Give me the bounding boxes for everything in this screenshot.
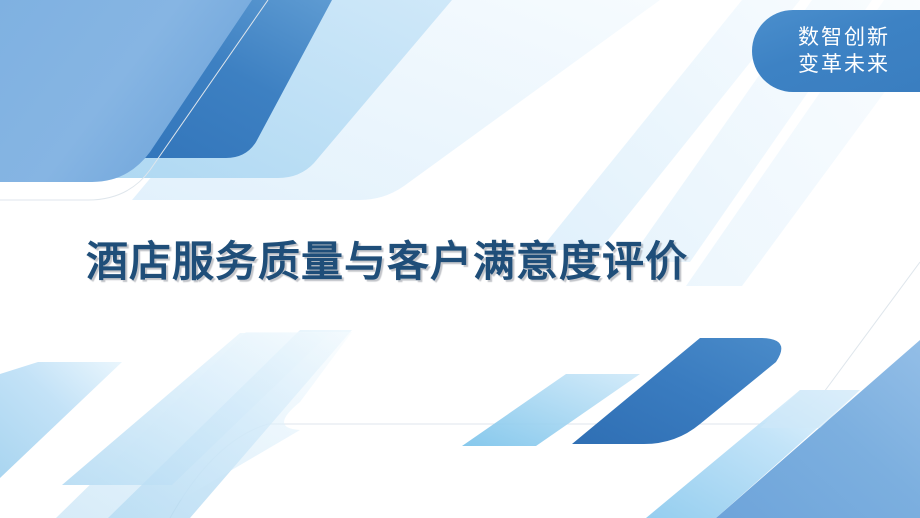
page-title: 酒店服务质量与客户满意度评价 <box>86 228 786 289</box>
corner-badge: 数智创新 变革未来 <box>752 10 920 92</box>
title-block: 酒店服务质量与客户满意度评价 <box>86 228 786 289</box>
title-slide: 数智创新 变革未来 酒店服务质量与客户满意度评价 <box>0 0 920 518</box>
badge-line-2: 变革未来 <box>798 51 890 78</box>
badge-line-1: 数智创新 <box>798 24 890 51</box>
